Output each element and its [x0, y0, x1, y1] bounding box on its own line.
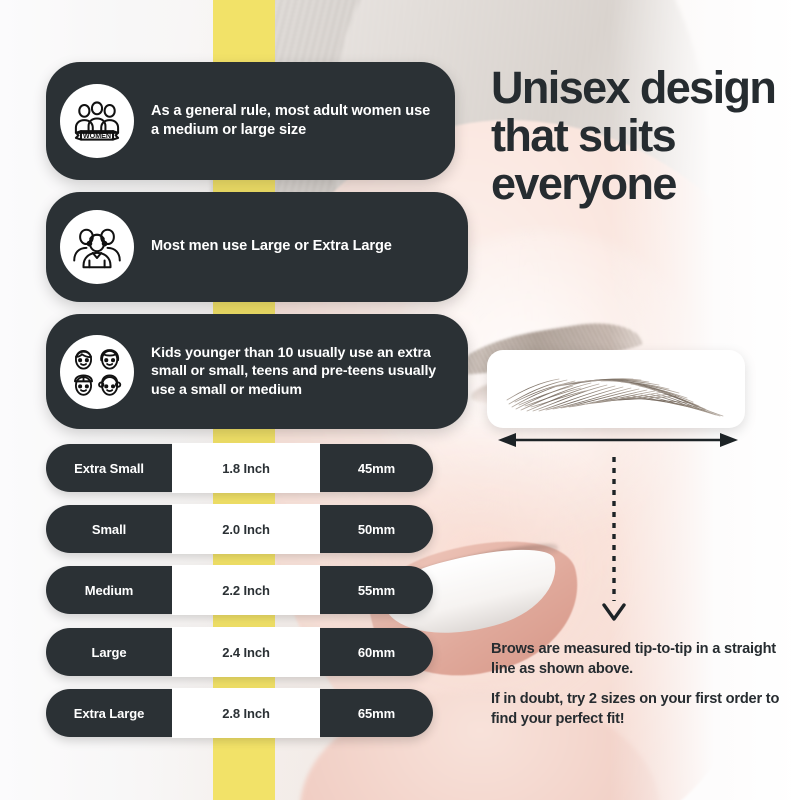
size-row: Extra Small 1.8 Inch 45mm [46, 444, 433, 492]
measurement-note: Brows are measured tip-to-tip in a strai… [491, 640, 781, 679]
size-name: Medium [46, 566, 172, 614]
size-name: Extra Small [46, 444, 172, 492]
size-name: Large [46, 628, 172, 676]
info-card-text: As a general rule, most adult women use … [151, 102, 455, 141]
size-inch: 1.8 Inch [222, 461, 270, 476]
size-name: Small [46, 505, 172, 553]
eyebrow-sample-card [487, 350, 745, 428]
three-men-group-icon [60, 210, 134, 284]
three-women-banner-icon: WOMEN [60, 84, 134, 158]
sizing-advice-note: If in doubt, try 2 sizes on your first o… [491, 690, 791, 729]
page-title: Unisex design that suits everyone [491, 64, 791, 208]
size-mm: 45mm [320, 444, 433, 492]
size-inch: 2.8 Inch [222, 706, 270, 721]
women-banner-label: WOMEN [83, 132, 111, 140]
dotted-down-arrow-icon [600, 455, 628, 625]
size-mm: 65mm [320, 689, 433, 737]
size-row: Large 2.4 Inch 60mm [46, 628, 433, 676]
size-row: Extra Large 2.8 Inch 65mm [46, 689, 433, 737]
size-name: Extra Large [46, 689, 172, 737]
size-mm: 60mm [320, 628, 433, 676]
four-kids-faces-icon [60, 335, 134, 409]
size-inch: 2.2 Inch [222, 583, 270, 598]
size-inch: 2.4 Inch [222, 645, 270, 660]
double-headed-arrow-icon [498, 432, 738, 448]
info-card-women: WOMEN As a general rule, most adult wome… [46, 62, 455, 180]
size-mm: 55mm [320, 566, 433, 614]
size-row: Medium 2.2 Inch 55mm [46, 566, 433, 614]
info-card-kids: Kids younger than 10 usually use an extr… [46, 314, 468, 429]
info-card-men: Most men use Large or Extra Large [46, 192, 468, 302]
eyebrow-illustration [501, 360, 731, 418]
size-row: Small 2.0 Inch 50mm [46, 505, 433, 553]
size-inch: 2.0 Inch [222, 522, 270, 537]
size-mm: 50mm [320, 505, 433, 553]
info-card-text: Most men use Large or Extra Large [151, 237, 406, 256]
infographic-canvas: WOMEN As a general rule, most adult wome… [0, 0, 800, 800]
info-card-text: Kids younger than 10 usually use an extr… [151, 344, 468, 399]
